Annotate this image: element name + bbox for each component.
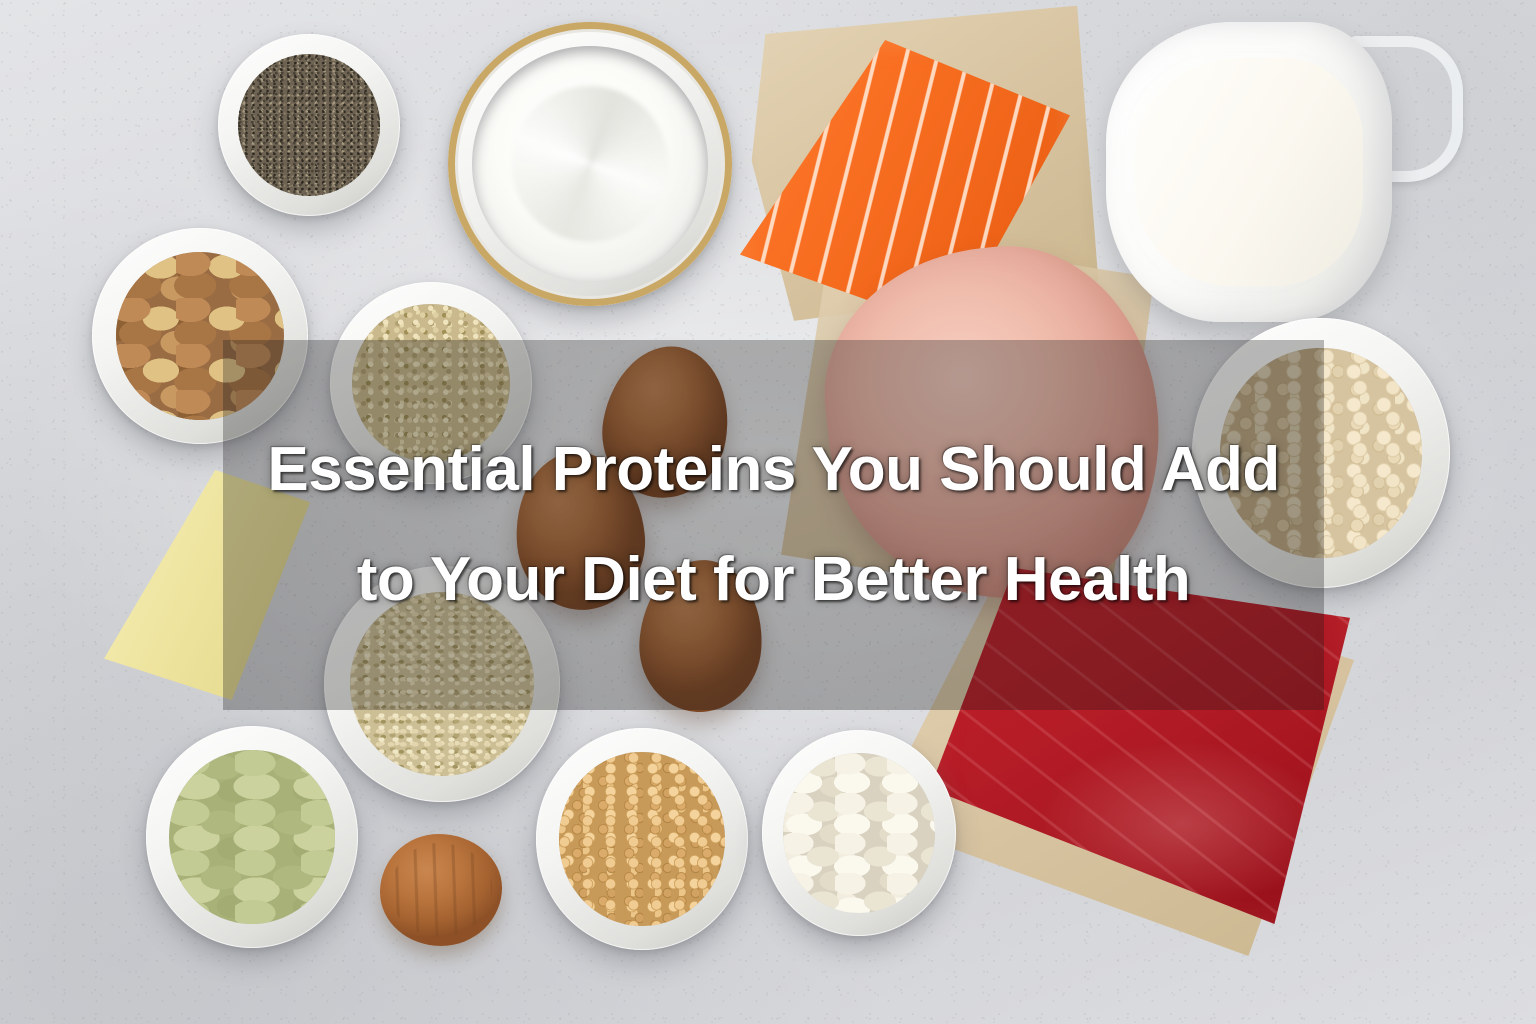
- chia-seeds-fill: [238, 54, 380, 196]
- milk-pitcher: [1106, 22, 1392, 322]
- pumpkin-seeds-bowl-well: [169, 750, 334, 923]
- white-beans-fill: [783, 753, 934, 914]
- page-title: Essential Proteins You Should Add to You…: [241, 415, 1306, 635]
- pumpkin-seeds-bowl: [146, 726, 358, 948]
- chia-seeds-bowl: [218, 34, 400, 216]
- chia-seeds-bowl-well: [238, 54, 380, 196]
- pumpkin-seeds-fill: [169, 750, 334, 923]
- white-beans-bowl: [762, 730, 956, 936]
- greek-yogurt-bowl: [448, 22, 732, 306]
- title-overlay-panel: Essential Proteins You Should Add to You…: [223, 340, 1324, 710]
- lentils-bowl-well: [559, 752, 724, 925]
- yogurt-bowl-rim: [448, 22, 732, 306]
- lentils-fill: [559, 752, 724, 925]
- lentils-bowl: [536, 728, 748, 950]
- hero-banner: Essential Proteins You Should Add to You…: [0, 0, 1536, 1024]
- milk-liquid: [1135, 58, 1364, 286]
- walnut: [380, 834, 502, 946]
- white-beans-bowl-well: [783, 753, 934, 914]
